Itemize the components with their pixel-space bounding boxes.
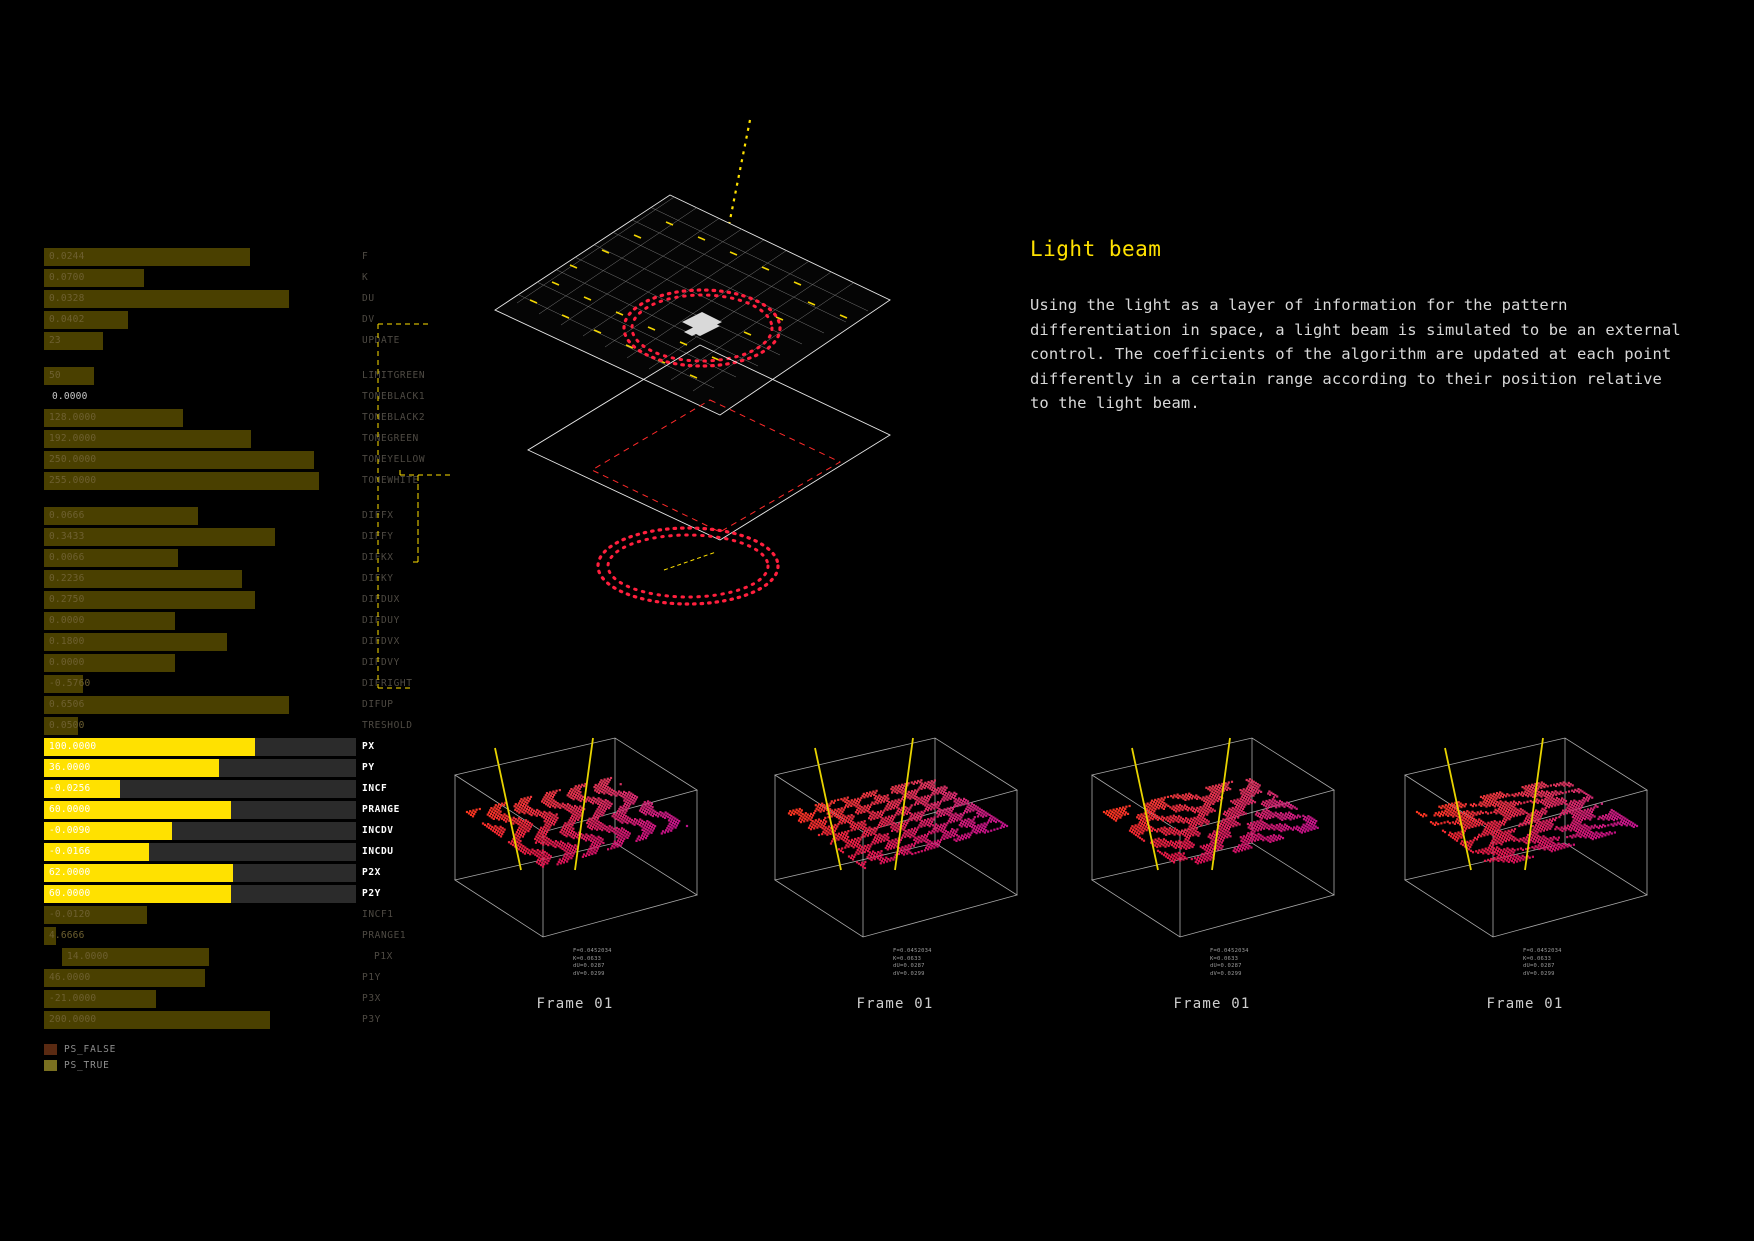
frame-caption: Frame 01 xyxy=(425,996,725,1012)
slider-row-toneyellow[interactable]: 250.0000TONEYELLOW xyxy=(44,451,404,469)
slider-label: PRANGE xyxy=(362,804,400,816)
slider-row-diffy[interactable]: 0.3433DIFFY xyxy=(44,528,404,546)
slider-row-dv[interactable]: 0.0402DV xyxy=(44,311,404,329)
slider-value: 192.0000 xyxy=(49,433,96,445)
slider-row-difky[interactable]: 0.2236DIFKY xyxy=(44,570,404,588)
readout-line: K=0.0633 xyxy=(573,956,723,964)
reaction-diffusion-box xyxy=(1375,720,1675,970)
slider-row-limitgreen[interactable]: 50LIMITGREEN xyxy=(44,367,404,385)
slider-value: 0.0666 xyxy=(49,510,85,522)
slider-label: K xyxy=(362,272,368,284)
slider-row-incf1[interactable]: -0.0120INCF1 xyxy=(44,906,404,924)
frame-caption: Frame 01 xyxy=(1062,996,1362,1012)
pattern-field xyxy=(1103,778,1319,864)
slider-value: -0.0256 xyxy=(49,783,90,795)
readout-line: dV=0.0299 xyxy=(1210,971,1360,979)
slider-row-difdvx[interactable]: 0.1800DIFDVX xyxy=(44,633,404,651)
slider-track[interactable] xyxy=(44,332,356,350)
slider-track[interactable] xyxy=(44,759,356,777)
slider-value: 255.0000 xyxy=(49,475,96,487)
frame-readout: F=0.0452034K=0.0633dU=0.0287dV=0.0299 xyxy=(1523,948,1673,978)
slider-value: 60.0000 xyxy=(49,888,90,900)
slider-value: 0.0500 xyxy=(49,720,85,732)
readout-line: dU=0.0287 xyxy=(893,963,1043,971)
group-spacer xyxy=(44,353,404,367)
readout-line: dV=0.0299 xyxy=(893,971,1043,979)
slider-label: PRANGE1 xyxy=(362,930,406,942)
readout-line: dU=0.0287 xyxy=(573,963,723,971)
page-title: Light beam xyxy=(1030,237,1690,261)
article-text-block: Light beam Using the light as a layer of… xyxy=(1030,237,1690,416)
legend-label: PS_FALSE xyxy=(64,1044,116,1055)
article-body: Using the light as a layer of informatio… xyxy=(1030,293,1690,416)
slider-row-difkx[interactable]: 0.0066DIFKX xyxy=(44,549,404,567)
slider-row-p2y[interactable]: 60.0000P2Y xyxy=(44,885,404,903)
readout-line: K=0.0633 xyxy=(893,956,1043,964)
slider-label: INCF1 xyxy=(362,909,394,921)
slider-label: INCDU xyxy=(362,846,394,858)
slider-label: P1X xyxy=(374,951,393,963)
slider-track[interactable] xyxy=(44,969,356,987)
slider-track[interactable] xyxy=(44,654,356,672)
slider-label: P1Y xyxy=(362,972,381,984)
slider-row-py[interactable]: 36.0000PY xyxy=(44,759,404,777)
readout-line: F=0.0452034 xyxy=(1210,948,1360,956)
slider-track[interactable] xyxy=(44,927,356,945)
simulation-frame-4: F=0.0452034K=0.0633dU=0.0287dV=0.0299Fra… xyxy=(1375,720,1675,1040)
slider-row-update[interactable]: 23UPDATE xyxy=(44,332,404,350)
slider-label: P3Y xyxy=(362,1014,381,1026)
slider-track[interactable] xyxy=(44,311,356,329)
slider-track[interactable] xyxy=(44,717,356,735)
readout-line: dV=0.0299 xyxy=(573,971,723,979)
frame-readout: F=0.0452034K=0.0633dU=0.0287dV=0.0299 xyxy=(1210,948,1360,978)
reaction-diffusion-box xyxy=(425,720,725,970)
slider-row-incdv[interactable]: -0.0090INCDV xyxy=(44,822,404,840)
simulation-frame-1: F=0.0452034K=0.0633dU=0.0287dV=0.0299Fra… xyxy=(425,720,725,1040)
pattern-field xyxy=(788,779,1008,869)
slider-row-incf[interactable]: -0.0256INCF xyxy=(44,780,404,798)
slider-value: -0.0090 xyxy=(49,825,90,837)
slider-track[interactable] xyxy=(44,549,356,567)
readout-line: K=0.0633 xyxy=(1210,956,1360,964)
slider-track[interactable] xyxy=(44,248,356,266)
readout-line: K=0.0633 xyxy=(1523,956,1673,964)
slider-row-p1x[interactable]: 14.0000P1X xyxy=(44,948,404,966)
simulation-frame-2: F=0.0452034K=0.0633dU=0.0287dV=0.0299Fra… xyxy=(745,720,1045,1040)
slider-track[interactable] xyxy=(44,780,356,798)
slider-track[interactable] xyxy=(44,528,356,546)
legend: PS_FALSEPS_TRUE xyxy=(44,1043,116,1075)
slider-row-p1y[interactable]: 46.0000P1Y xyxy=(44,969,404,987)
slider-track[interactable] xyxy=(44,388,356,406)
slider-group-tone: 50LIMITGREEN0.0000TONEBLACK1128.0000TONE… xyxy=(44,367,404,490)
slider-track[interactable] xyxy=(44,864,356,882)
slider-value: 0.0700 xyxy=(49,272,85,284)
simulation-frame-3: F=0.0452034K=0.0633dU=0.0287dV=0.0299Fra… xyxy=(1062,720,1362,1040)
frame-caption: Frame 01 xyxy=(745,996,1045,1012)
slider-value: 62.0000 xyxy=(49,867,90,879)
slider-value: 200.0000 xyxy=(49,1014,96,1026)
slider-track[interactable] xyxy=(44,843,356,861)
slider-row-p3x[interactable]: -21.0000P3X xyxy=(44,990,404,1008)
slider-value: 0.6506 xyxy=(49,699,85,711)
slider-row-toneblack1[interactable]: 0.0000TONEBLACK1 xyxy=(44,388,404,406)
slider-value: 60.0000 xyxy=(49,804,90,816)
readout-line: F=0.0452034 xyxy=(573,948,723,956)
slider-group-reaction: 0.0244F0.0700K0.0328DU0.0402DV23UPDATE xyxy=(44,248,404,350)
slider-value: 0.0402 xyxy=(49,314,85,326)
slider-value: 250.0000 xyxy=(49,454,96,466)
slider-label: P2X xyxy=(362,867,381,879)
slider-value: 50 xyxy=(49,370,61,382)
slider-row-diffx[interactable]: 0.0666DIFFX xyxy=(44,507,404,525)
frame-readout: F=0.0452034K=0.0633dU=0.0287dV=0.0299 xyxy=(893,948,1043,978)
slider-row-difduy[interactable]: 0.0000DIFDUY xyxy=(44,612,404,630)
slider-value: 0.3433 xyxy=(49,531,85,543)
slider-value: 4.6666 xyxy=(49,930,85,942)
slider-value: -0.5760 xyxy=(49,678,90,690)
slider-value: 0.0000 xyxy=(49,657,85,669)
parameter-slider-panel: 0.0244F0.0700K0.0328DU0.0402DV23UPDATE 5… xyxy=(44,248,404,1032)
slider-row-tonegreen[interactable]: 192.0000TONEGREEN xyxy=(44,430,404,448)
slider-track[interactable] xyxy=(44,822,356,840)
slider-value: 0.2750 xyxy=(49,594,85,606)
slider-label: INCDV xyxy=(362,825,394,837)
slider-row-f[interactable]: 0.0244F xyxy=(44,248,404,266)
slider-row-p2x[interactable]: 62.0000P2X xyxy=(44,864,404,882)
slider-row-prange[interactable]: 60.0000PRANGE xyxy=(44,801,404,819)
frame-readout: F=0.0452034K=0.0633dU=0.0287dV=0.0299 xyxy=(573,948,723,978)
slider-row-toneblack2[interactable]: 128.0000TONEBLACK2 xyxy=(44,409,404,427)
slider-group-diffusion: 0.0666DIFFX0.3433DIFFY0.0066DIFKX0.2236D… xyxy=(44,507,404,735)
slider-value: -0.0120 xyxy=(49,909,90,921)
slider-value: 0.0066 xyxy=(49,552,85,564)
slider-row-prange1[interactable]: 4.6666PRANGE1 xyxy=(44,927,404,945)
slider-value: 23 xyxy=(49,335,61,347)
readout-line: dV=0.0299 xyxy=(1523,971,1673,979)
slider-value: 0.0244 xyxy=(49,251,85,263)
legend-label: PS_TRUE xyxy=(64,1060,110,1071)
readout-line: F=0.0452034 xyxy=(1523,948,1673,956)
slider-row-difup[interactable]: 0.6506DIFUP xyxy=(44,696,404,714)
legend-swatch xyxy=(44,1060,57,1071)
slider-row-difdvy[interactable]: 0.0000DIFDVY xyxy=(44,654,404,672)
slider-row-k[interactable]: 0.0700K xyxy=(44,269,404,287)
slider-track[interactable] xyxy=(44,801,356,819)
slider-label: P2Y xyxy=(362,888,381,900)
slider-track[interactable] xyxy=(44,570,356,588)
slider-track[interactable] xyxy=(44,885,356,903)
slider-row-incdu[interactable]: -0.0166INCDU xyxy=(44,843,404,861)
legend-item-ps_false: PS_FALSE xyxy=(44,1043,116,1056)
slider-value: 36.0000 xyxy=(49,762,90,774)
readout-line: dU=0.0287 xyxy=(1210,963,1360,971)
slider-track[interactable] xyxy=(44,290,356,308)
slider-track[interactable] xyxy=(44,367,356,385)
slider-row-treshold[interactable]: 0.0500TRESHOLD xyxy=(44,717,404,735)
slider-row-difright[interactable]: -0.5760DIFRIGHT xyxy=(44,675,404,693)
slider-group-beam: 100.0000PX36.0000PY-0.0256INCF60.0000PRA… xyxy=(44,738,404,903)
slider-value: 0.0000 xyxy=(52,391,88,403)
slider-value: -0.0166 xyxy=(49,846,90,858)
slider-track[interactable] xyxy=(44,612,356,630)
slider-row-du[interactable]: 0.0328DU xyxy=(44,290,404,308)
slider-track[interactable] xyxy=(44,269,356,287)
reaction-diffusion-box xyxy=(745,720,1045,970)
frame-caption: Frame 01 xyxy=(1375,996,1675,1012)
legend-item-ps_true: PS_TRUE xyxy=(44,1059,116,1072)
slider-value: 0.1800 xyxy=(49,636,85,648)
slider-value: 0.0328 xyxy=(49,293,85,305)
slider-group-beam-secondary: -0.0120INCF14.6666PRANGE114.0000P1X46.00… xyxy=(44,906,404,1029)
slider-row-difdux[interactable]: 0.2750DIFDUX xyxy=(44,591,404,609)
group-spacer xyxy=(44,493,404,507)
slider-row-p3y[interactable]: 200.0000P3Y xyxy=(44,1011,404,1029)
slider-row-px[interactable]: 100.0000PX xyxy=(44,738,404,756)
slider-value: 0.2236 xyxy=(49,573,85,585)
slider-value: -21.0000 xyxy=(49,993,96,1005)
slider-label: F xyxy=(362,251,368,263)
readout-line: dU=0.0287 xyxy=(1523,963,1673,971)
canvas-root: 0.0244F0.0700K0.0328DU0.0402DV23UPDATE 5… xyxy=(0,0,1754,1241)
slider-track[interactable] xyxy=(44,591,356,609)
slider-value: 100.0000 xyxy=(49,741,96,753)
slider-track[interactable] xyxy=(44,507,356,525)
slider-track[interactable] xyxy=(44,633,356,651)
slider-value: 128.0000 xyxy=(49,412,96,424)
slider-track[interactable] xyxy=(44,675,356,693)
slider-label: P3X xyxy=(362,993,381,1005)
readout-line: F=0.0452034 xyxy=(893,948,1043,956)
slider-value: 46.0000 xyxy=(49,972,90,984)
slider-track[interactable] xyxy=(44,906,356,924)
reaction-diffusion-box xyxy=(1062,720,1362,970)
slider-value: 14.0000 xyxy=(67,951,108,963)
slider-row-tonewhite[interactable]: 255.0000TONEWHITE xyxy=(44,472,404,490)
slider-value: 0.0000 xyxy=(49,615,85,627)
legend-swatch xyxy=(44,1044,57,1055)
slider-track[interactable] xyxy=(44,696,356,714)
